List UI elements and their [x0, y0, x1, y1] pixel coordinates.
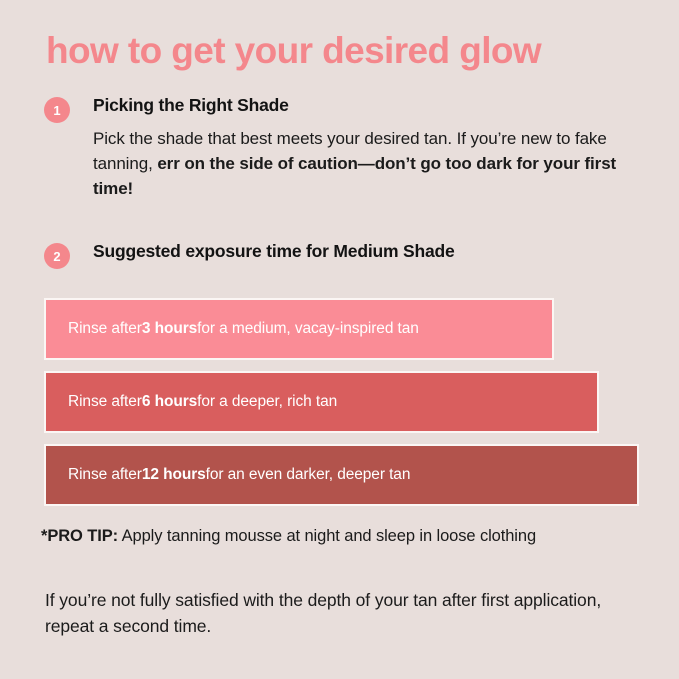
step-number-badge-2: 2	[44, 243, 70, 269]
bar-2-prefix: Rinse after	[68, 393, 142, 411]
step-1-text: Pick the shade that best meets your desi…	[93, 126, 634, 201]
bar-1-prefix: Rinse after	[68, 320, 142, 338]
pro-tip: *PRO TIP: Apply tanning mousse at night …	[41, 527, 536, 546]
exposure-time-bars: Rinse after 3 hours for a medium, vacay-…	[44, 298, 639, 517]
bar-2-suffix: for a deeper, rich tan	[197, 393, 337, 411]
step-1-heading: Picking the Right Shade	[93, 94, 634, 117]
bar-3-prefix: Rinse after	[68, 466, 142, 484]
exposure-bar-12-hours: Rinse after 12 hours for an even darker,…	[44, 444, 639, 506]
infographic-page: how to get your desired glow 1 Picking t…	[0, 0, 679, 679]
pro-tip-text: Apply tanning mousse at night and sleep …	[118, 527, 536, 545]
step-2: 2 Suggested exposure time for Medium Sha…	[44, 240, 634, 263]
bar-2-duration: 6 hours	[142, 393, 197, 411]
pro-tip-label: *PRO TIP:	[41, 527, 118, 545]
step-1: 1 Picking the Right Shade Pick the shade…	[44, 94, 634, 201]
bar-1-duration: 3 hours	[142, 320, 197, 338]
step-1-body: Picking the Right Shade Pick the shade t…	[93, 94, 634, 201]
step-1-text-emphasis: err on the side of caution—don’t go too …	[93, 154, 616, 198]
bar-3-suffix: for an even darker, deeper tan	[206, 466, 411, 484]
step-2-body: Suggested exposure time for Medium Shade	[93, 240, 634, 263]
exposure-bar-3-hours: Rinse after 3 hours for a medium, vacay-…	[44, 298, 554, 360]
exposure-bar-6-hours: Rinse after 6 hours for a deeper, rich t…	[44, 371, 599, 433]
bar-1-suffix: for a medium, vacay-inspired tan	[197, 320, 419, 338]
step-number-badge-1: 1	[44, 97, 70, 123]
bar-3-duration: 12 hours	[142, 466, 206, 484]
step-2-heading: Suggested exposure time for Medium Shade	[93, 240, 634, 263]
page-title: how to get your desired glow	[46, 30, 541, 73]
footer-note: If you’re not fully satisfied with the d…	[45, 588, 635, 640]
